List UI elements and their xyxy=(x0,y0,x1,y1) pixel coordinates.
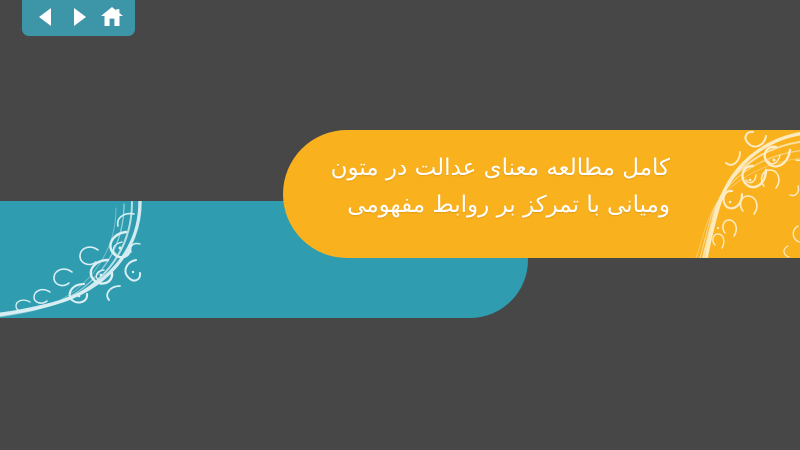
navigation-bar xyxy=(22,0,135,36)
triangle-right-icon xyxy=(70,7,88,27)
next-button[interactable] xyxy=(66,5,92,29)
arabesque-ornament-teal xyxy=(0,201,142,318)
title-line-2: ومیانی با تمرکز بر روابط مفهومی xyxy=(240,187,670,224)
title-line-1: کامل مطالعه معنای عدالت در متون xyxy=(240,150,670,187)
arabesque-ornament-orange xyxy=(648,130,800,258)
home-icon xyxy=(100,6,124,28)
triangle-left-icon xyxy=(37,7,55,27)
previous-button[interactable] xyxy=(33,5,59,29)
slide-canvas: کامل مطالعه معنای عدالت در متون ومیانی ب… xyxy=(0,0,800,450)
slide-title: کامل مطالعه معنای عدالت در متون ومیانی ب… xyxy=(240,150,670,224)
home-button[interactable] xyxy=(99,5,125,29)
